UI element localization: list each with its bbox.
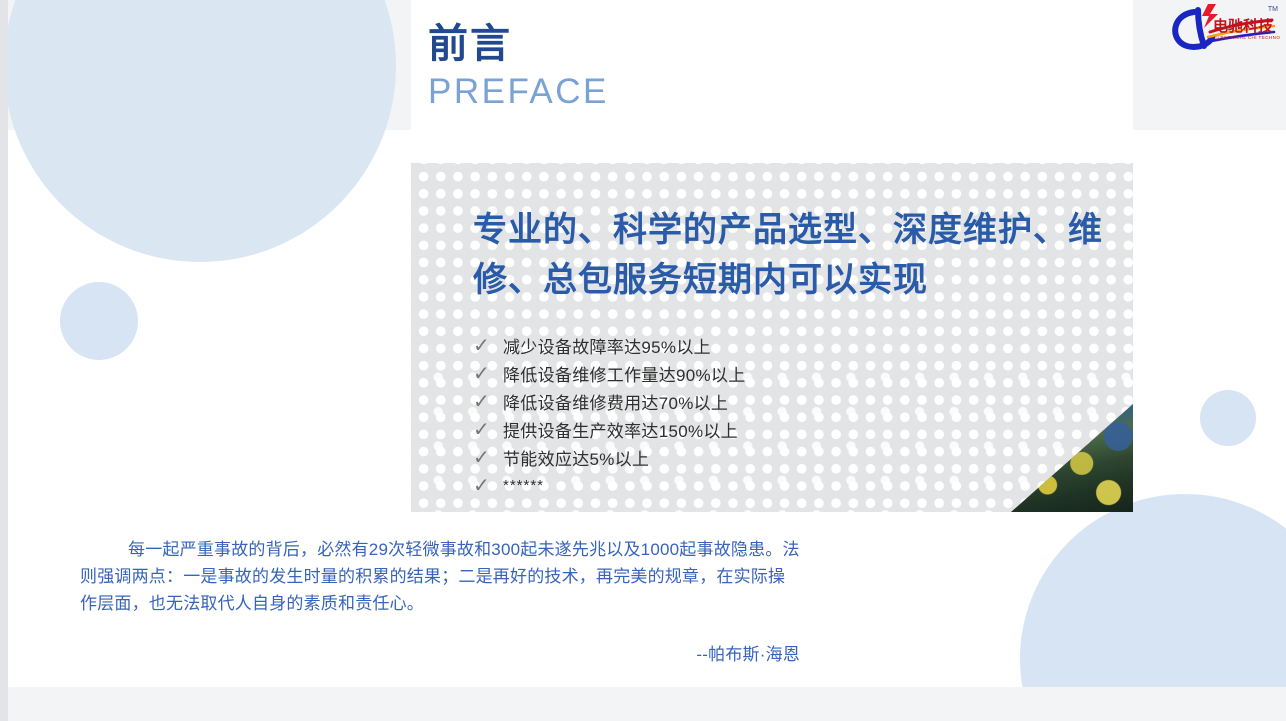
slide-canvas: 前言 PREFACE 电驰科技 ELECTRICAL CHI TECHNOLOG… (0, 0, 1286, 721)
check-icon: ✓ (473, 448, 503, 468)
list-item: ✓ 节能效应达5%以上 (473, 444, 1133, 472)
list-item: ✓ 减少设备故障率达95%以上 (473, 332, 1133, 360)
company-logo: 电驰科技 ELECTRICAL CHI TECHNOLOGY TM (1164, 2, 1280, 54)
list-item-label: 提供设备生产效率达150%以上 (503, 417, 738, 442)
list-item-label: ****** (503, 477, 544, 494)
list-item-label: 降低设备维修费用达70%以上 (503, 389, 728, 414)
decorative-circle-large-top-left (4, 0, 396, 262)
quote-attribution: --帕布斯·海恩 (696, 640, 800, 665)
hero-headline: 专业的、科学的产品选型、深度维护、维修、总包服务短期内可以实现 (473, 205, 1133, 306)
list-item-label: 降低设备维修工作量达90%以上 (503, 361, 746, 386)
quote-text: 每一起严重事故的背后，必然有29次轻微事故和300起未遂先兆以及1000起事故隐… (71, 525, 823, 618)
quote-panel: 每一起严重事故的背后，必然有29次轻微事故和300起未遂先兆以及1000起事故隐… (71, 525, 823, 677)
list-item: ✓ 降低设备维修费用达70%以上 (473, 388, 1133, 416)
hero-panel: 专业的、科学的产品选型、深度维护、维修、总包服务短期内可以实现 ✓ 减少设备故障… (411, 163, 1133, 512)
list-item: ✓ 降低设备维修工作量达90%以上 (473, 360, 1133, 388)
list-item: ✓ 提供设备生产效率达150%以上 (473, 416, 1133, 444)
page-title: 前言 PREFACE (428, 22, 928, 114)
check-icon: ✓ (473, 476, 503, 496)
list-item-label: 节能效应达5%以上 (503, 445, 649, 470)
page-title-cn: 前言 (428, 22, 928, 66)
check-icon: ✓ (473, 392, 503, 412)
logo-mark-icon: 电驰科技 ELECTRICAL CHI TECHNOLOGY (1164, 2, 1280, 54)
list-item-label: 减少设备故障率达95%以上 (503, 333, 711, 358)
background-band-bottom (0, 687, 1286, 721)
decorative-circle-small-left (60, 282, 138, 360)
logo-wordmark-cn: 电驰科技 (1213, 17, 1274, 35)
logo-trademark-icon: TM (1268, 6, 1278, 13)
hero-content: 专业的、科学的产品选型、深度维护、维修、总包服务短期内可以实现 ✓ 减少设备故障… (473, 205, 1133, 500)
check-icon: ✓ (473, 420, 503, 440)
page-title-en: PREFACE (428, 70, 928, 114)
slide-left-edge (0, 0, 8, 721)
benefit-list: ✓ 减少设备故障率达95%以上 ✓ 降低设备维修工作量达90%以上 ✓ 降低设备… (473, 332, 1133, 500)
check-icon: ✓ (473, 336, 503, 356)
logo-tagline-en: ELECTRICAL CHI TECHNOLOGY (1214, 35, 1280, 40)
list-item: ✓ ****** (473, 472, 1133, 500)
decorative-circle-small-right (1200, 390, 1256, 446)
check-icon: ✓ (473, 364, 503, 384)
